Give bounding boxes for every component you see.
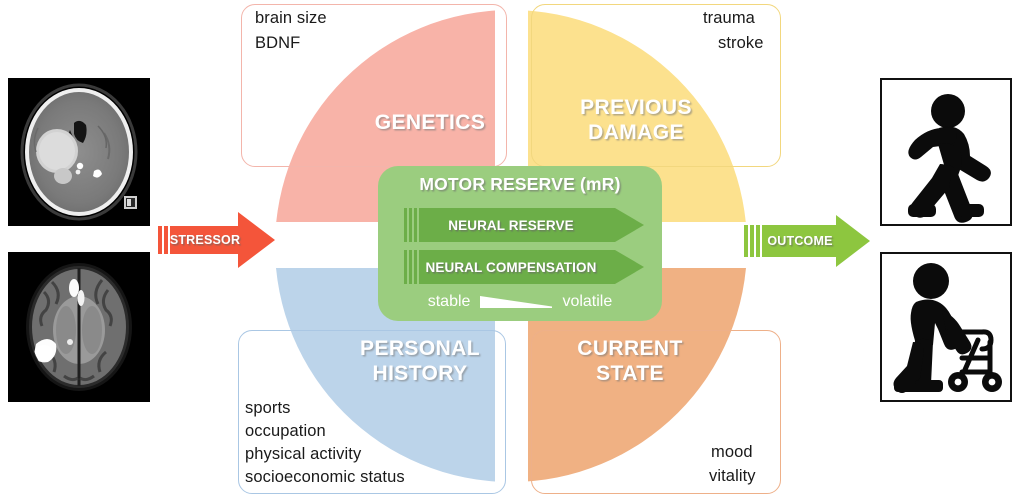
stressor-label: STRESSOR	[170, 210, 240, 270]
outcome-walking-frame	[880, 78, 1012, 226]
outcome-label: OUTCOME	[762, 215, 838, 267]
keyword-previous-damage-2: stroke	[718, 33, 764, 54]
keyword-personal-history-3: physical activity	[245, 444, 361, 465]
stability-scale: stable volatile	[378, 288, 662, 316]
person-with-rollator-icon	[882, 254, 1010, 400]
quadrant-title-previous-damage-line2: DAMAGE	[536, 120, 736, 145]
keyword-current-state-2: vitality	[709, 466, 756, 487]
neural-compensation-arrow: NEURAL COMPENSATION	[404, 250, 644, 284]
stressor-arrow: STRESSOR	[158, 210, 275, 270]
keyword-genetics-1: brain size	[255, 8, 327, 29]
neural-compensation-label: NEURAL COMPENSATION	[404, 250, 618, 284]
motor-reserve-panel: MOTOR RESERVE (mR) NEURAL RESERVE NEURAL…	[378, 166, 662, 321]
keyword-personal-history-2: occupation	[245, 421, 326, 442]
quadrant-title-previous-damage: PREVIOUS DAMAGE	[536, 95, 736, 145]
quadrant-title-current-state-line1: CURRENT	[530, 336, 730, 361]
figure-canvas: brain size BDNF trauma stroke sports occ…	[0, 0, 1020, 496]
walking-person-icon	[882, 80, 1010, 224]
scale-label-stable: stable	[428, 293, 471, 311]
quadrant-title-genetics: GENETICS	[340, 110, 520, 135]
stability-wedge-icon	[480, 294, 552, 310]
neural-reserve-label: NEURAL RESERVE	[404, 208, 618, 242]
keyword-personal-history-1: sports	[245, 398, 291, 419]
motor-reserve-title: MOTOR RESERVE (mR)	[378, 174, 662, 195]
quadrant-title-current-state: CURRENT STATE	[530, 336, 730, 386]
keyword-current-state-1: mood	[711, 442, 753, 463]
quadrant-title-current-state-line2: STATE	[530, 361, 730, 386]
quadrant-title-previous-damage-line1: PREVIOUS	[536, 95, 736, 120]
keyword-previous-damage-1: trauma	[703, 8, 755, 29]
quadrant-title-personal-history-line2: HISTORY	[320, 361, 520, 386]
ct-head-hemorrhage-image	[8, 78, 150, 226]
quadrant-title-personal-history-line1: PERSONAL	[320, 336, 520, 361]
quadrant-title-personal-history: PERSONAL HISTORY	[320, 336, 520, 386]
dwi-mri-infarct-image	[8, 252, 150, 402]
keyword-personal-history-4: socioeconomic status	[245, 467, 405, 488]
outcome-arrow: OUTCOME	[744, 215, 870, 267]
keyword-genetics-2: BDNF	[255, 33, 300, 54]
scale-label-volatile: volatile	[562, 293, 612, 311]
neural-reserve-arrow: NEURAL RESERVE	[404, 208, 644, 242]
outcome-rollator-frame	[880, 252, 1012, 402]
